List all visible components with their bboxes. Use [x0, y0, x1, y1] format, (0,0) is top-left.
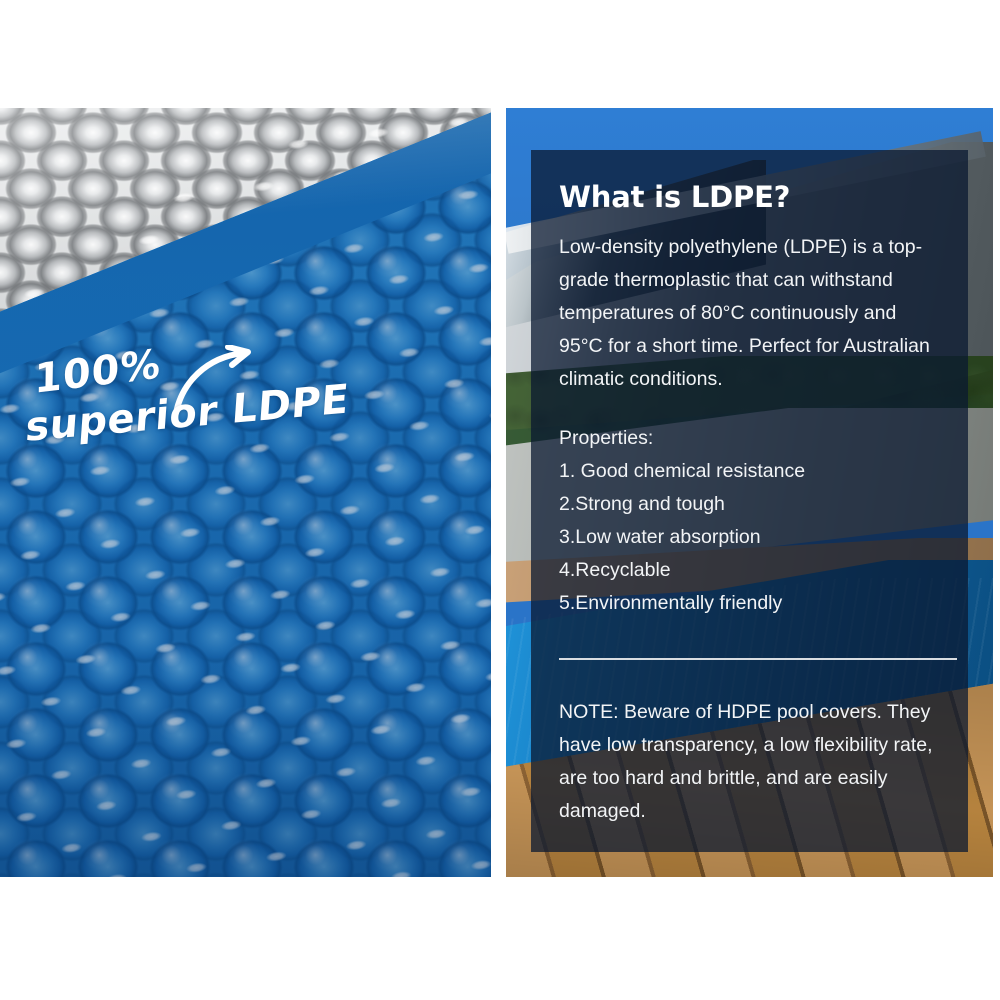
- properties-list: 1. Good chemical resistance 2.Strong and…: [559, 455, 940, 620]
- card-divider: [559, 658, 957, 660]
- bubble-wrap-product-photo: 100% superior LDPE: [0, 108, 491, 877]
- list-item: 3.Low water absorption: [559, 521, 940, 554]
- list-item: 5.Environmentally friendly: [559, 587, 940, 620]
- card-title: What is LDPE?: [559, 180, 940, 214]
- info-card-overlay: What is LDPE? Low-density polyethylene (…: [531, 150, 968, 852]
- handwritten-caption: 100% superior LDPE: [22, 353, 352, 488]
- card-intro-paragraph: Low-density polyethylene (LDPE) is a top…: [559, 231, 940, 396]
- list-item: 2.Strong and tough: [559, 488, 940, 521]
- product-infographic: 100% superior LDPE What is LDPE? Low-den…: [0, 0, 1000, 1000]
- list-item: 1. Good chemical resistance: [559, 455, 940, 488]
- pool-photo-panel: What is LDPE? Low-density polyethylene (…: [506, 108, 993, 877]
- properties-label: Properties:: [559, 422, 940, 455]
- list-item: 4.Recyclable: [559, 554, 940, 587]
- card-note-paragraph: NOTE: Beware of HDPE pool covers. They h…: [559, 696, 940, 828]
